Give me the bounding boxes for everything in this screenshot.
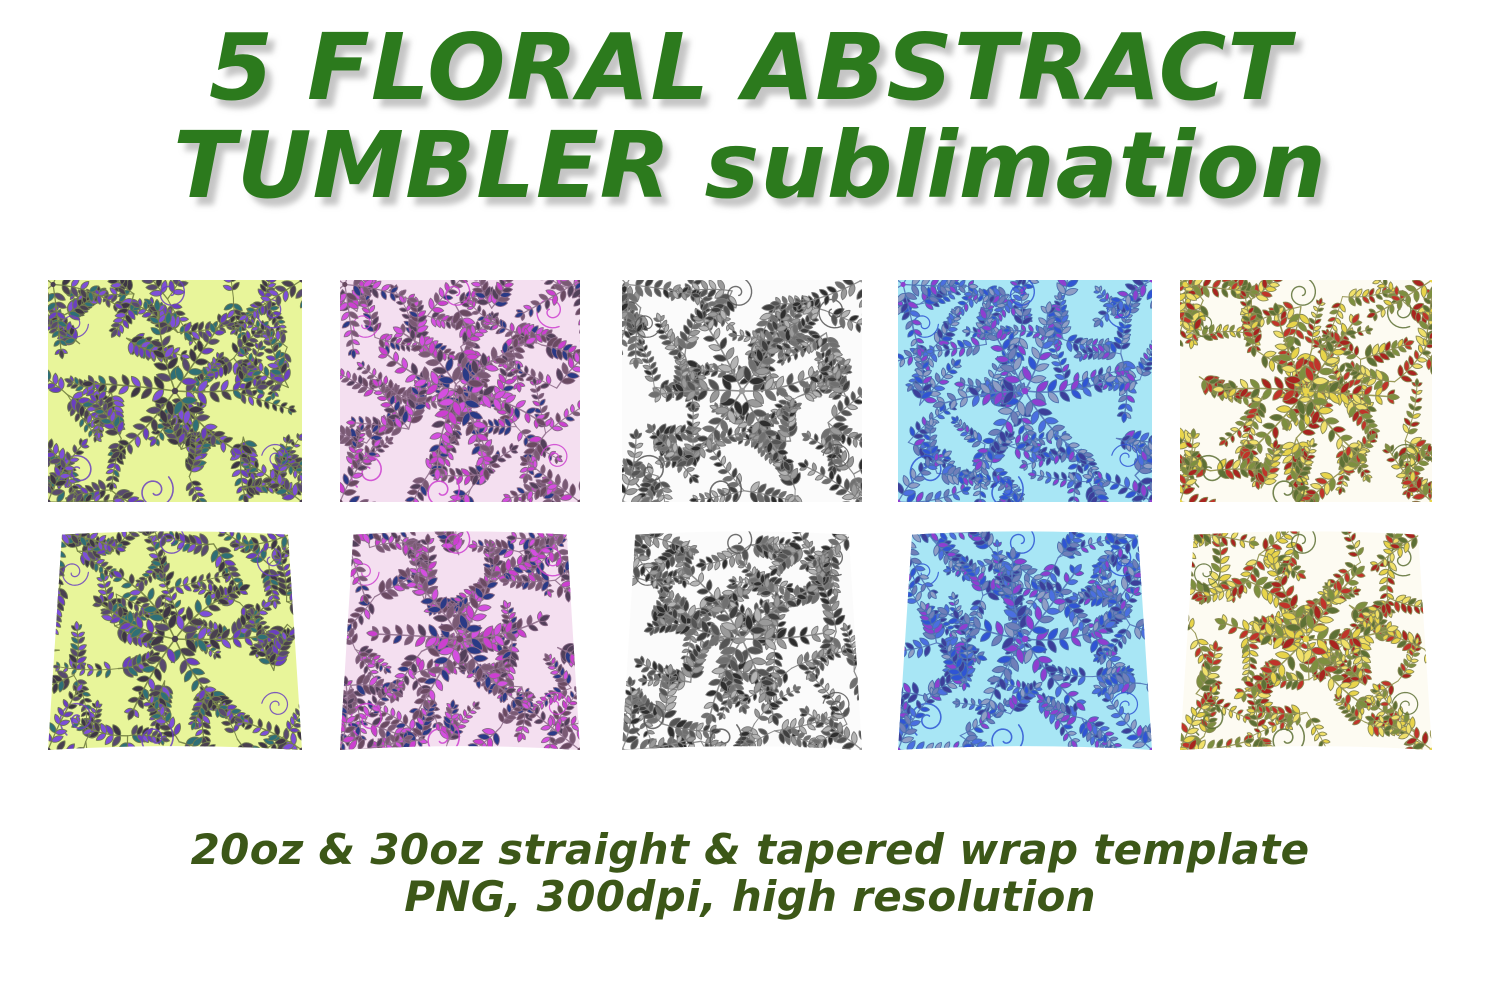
title-line-2: TUMBLER sublimation [0, 120, 1500, 212]
leaf-icon [294, 444, 300, 447]
leaf-icon [389, 380, 393, 389]
flower-center-icon [457, 388, 463, 394]
flower-center-icon [739, 388, 745, 394]
pattern-clip-group [340, 280, 580, 502]
leaf-icon [710, 307, 721, 312]
leaf-icon [53, 373, 58, 385]
leaf-icon [260, 305, 264, 314]
leaf-icon [829, 470, 834, 480]
leaf-icon [238, 321, 245, 324]
title-line-1: 5 FLORAL ABSTRACT [0, 22, 1500, 114]
leaf-icon [964, 292, 972, 296]
flower-center-icon [624, 282, 629, 287]
leaf-icon [215, 363, 222, 367]
leaf-icon [638, 487, 649, 492]
flower-center-icon [172, 388, 178, 394]
leaf-icon [381, 403, 391, 408]
title-block: 5 FLORAL ABSTRACT TUMBLER sublimation [0, 22, 1500, 212]
pattern-tile-straight-pink-magenta[interactable] [340, 280, 580, 502]
leaf-icon [502, 447, 506, 455]
pattern-clip-group [48, 280, 302, 502]
pattern-svg [622, 280, 862, 502]
leaf-icon [959, 419, 962, 426]
leaf-icon [832, 405, 838, 417]
leaf-icon [64, 466, 74, 471]
pattern-svg [48, 280, 302, 502]
leaf-icon [640, 482, 651, 487]
leaf-icon [533, 460, 537, 468]
pattern-tile-straight-blue-cyan[interactable] [898, 280, 1152, 502]
pattern-clip-group [898, 280, 1152, 502]
leaf-icon [179, 317, 188, 321]
pattern-tile-straight-grayscale[interactable] [622, 280, 862, 502]
leaf-icon [697, 436, 709, 441]
leaf-icon [97, 432, 101, 439]
flower-center-icon [51, 282, 56, 287]
leaf-icon [367, 365, 370, 372]
pattern-tile-straight-yellow-green-purple[interactable] [48, 280, 302, 502]
leaf-icon [801, 349, 805, 357]
leaf-icon [289, 466, 293, 475]
leaf-icon [219, 366, 224, 377]
leaf-icon [633, 358, 638, 368]
poster-canvas: 5 FLORAL ABSTRACT TUMBLER sublimation 20… [0, 0, 1500, 1000]
pattern-svg [898, 280, 1152, 502]
pattern-svg [340, 280, 580, 502]
flower-center-icon [342, 282, 347, 287]
pattern-clip-group [622, 280, 862, 502]
